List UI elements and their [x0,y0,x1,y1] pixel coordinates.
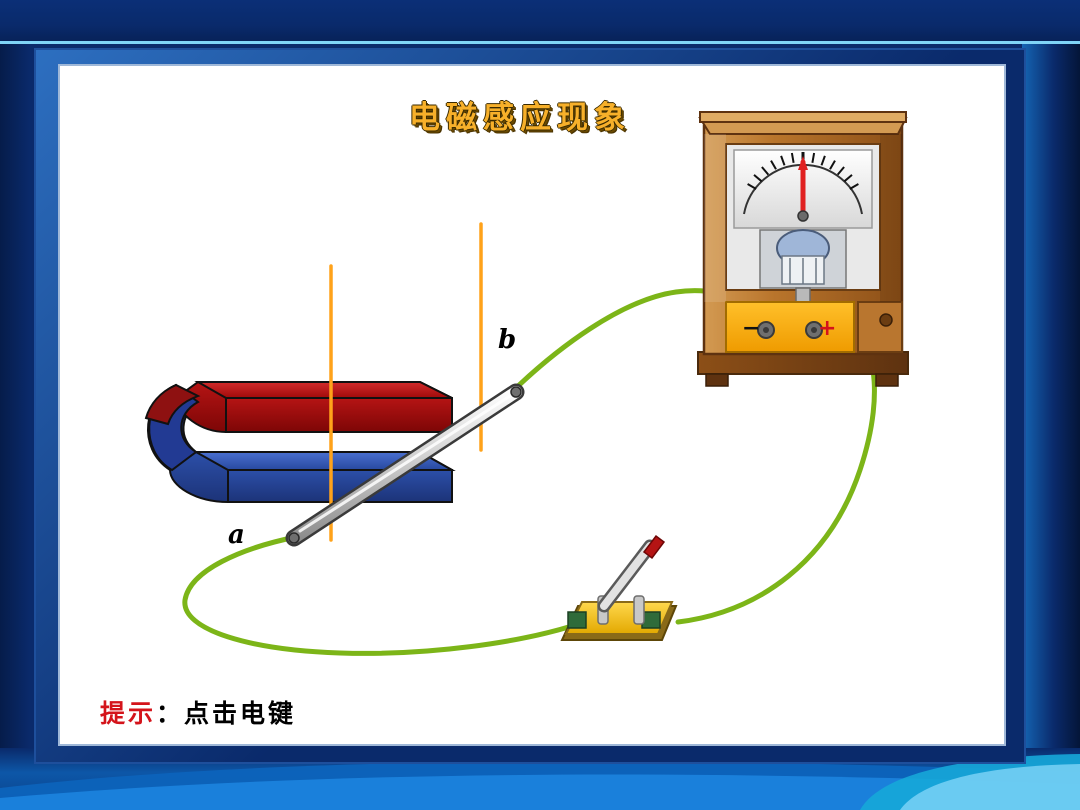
rod-terminal-a [289,533,299,543]
rod-terminal-b [511,387,521,397]
hint-keyword: 提示 [100,699,156,728]
terminal-label-minus: − [742,316,760,341]
physics-diagram [0,0,1080,810]
horseshoe-magnet [146,382,452,502]
terminal-label-plus: + [818,316,836,341]
label-rod-end-b: b [498,325,516,355]
switch-post-right [634,596,644,624]
meter-base [698,352,908,374]
hint-action: 点击电键 [184,699,296,728]
switch-terminal-left [568,612,586,628]
label-rod-end-a: a [228,520,245,550]
hint-separator: ： [156,699,184,728]
galvanometer[interactable] [698,112,908,386]
slide-stage: 电磁感应现象 [0,0,1080,810]
knife-switch[interactable] [562,536,676,640]
switch-handle [644,536,664,558]
hint-text: 提示：点击电键 [100,694,296,730]
